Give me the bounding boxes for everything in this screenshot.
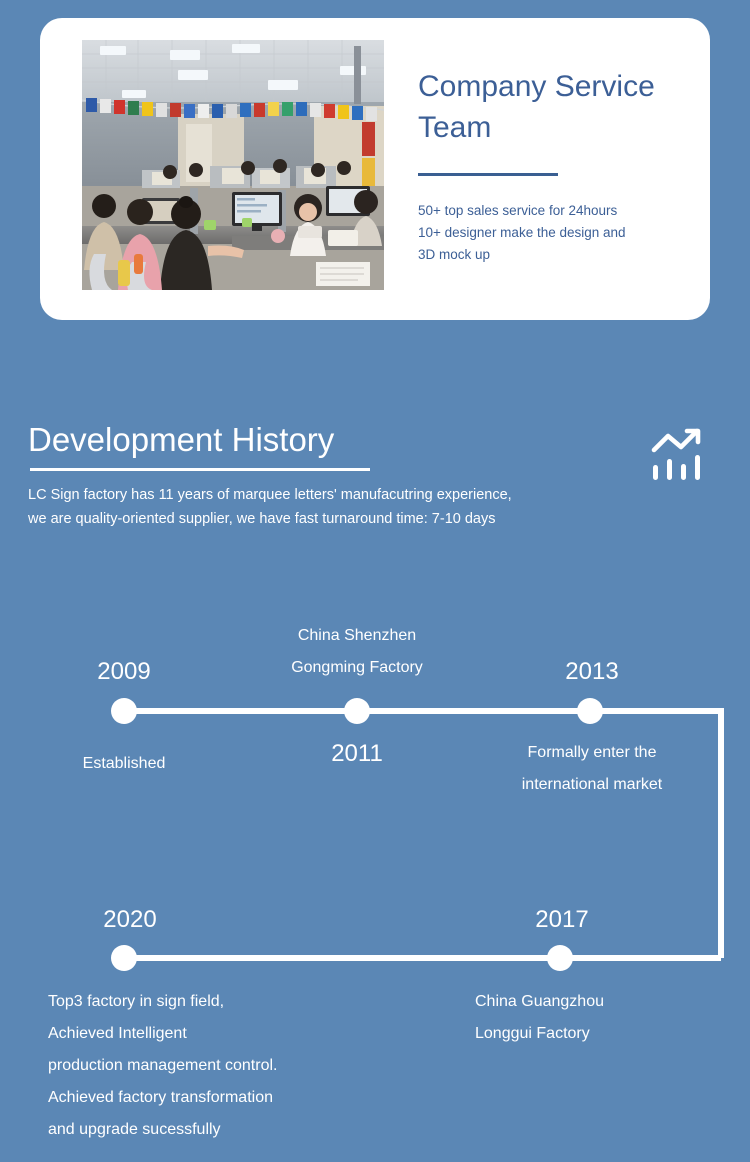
timeline-year-2013: 2013 xyxy=(565,657,618,687)
timeline-label-2020-line-2: Achieved Intelligent xyxy=(48,1018,428,1050)
timeline-label-2009: Established xyxy=(34,748,214,780)
timeline-label-2011: China Shenzhen Gongming Factory xyxy=(237,620,477,684)
timeline-label-2013-line-2: international market xyxy=(462,769,722,801)
timeline-label-2020-line-1: Top3 factory in sign field, xyxy=(48,986,428,1018)
timeline-label-2013-line-1: Formally enter the xyxy=(462,737,722,769)
timeline-dot-2017[interactable] xyxy=(547,945,573,971)
timeline-year-2017: 2017 xyxy=(535,905,588,935)
hero-subtitle: 50+ top sales service for 24hours 10+ de… xyxy=(418,200,690,266)
timeline-label-2017-line-2: Longgui Factory xyxy=(475,1018,745,1050)
development-history-title: Development History xyxy=(28,418,334,462)
timeline-label-2020-line-5: and upgrade sucessfully xyxy=(48,1114,428,1146)
hero-subtitle-line-3: 3D mock up xyxy=(418,244,690,266)
timeline-year-2011: 2011 xyxy=(331,739,383,769)
office-team-photo xyxy=(82,40,384,290)
timeline-label-2011-line-1: China Shenzhen xyxy=(237,620,477,652)
timeline-label-2020-line-3: production management control. xyxy=(48,1050,428,1082)
timeline-label-2009-line-1: Established xyxy=(34,748,214,780)
hero-title: Company Service Team xyxy=(418,66,690,148)
development-description-line-1: LC Sign factory has 11 years of marquee … xyxy=(28,483,628,507)
development-history-underline xyxy=(30,468,370,471)
hero-subtitle-line-2: 10+ designer make the design and xyxy=(418,222,690,244)
timeline-label-2011-line-2: Gongming Factory xyxy=(237,652,477,684)
timeline-label-2020-line-4: Achieved factory transformation xyxy=(48,1082,428,1114)
timeline-dot-2009[interactable] xyxy=(111,698,137,724)
hero-text-block: Company Service Team 50+ top sales servi… xyxy=(418,66,690,266)
company-service-team-card: Company Service Team 50+ top sales servi… xyxy=(40,18,710,320)
growth-chart-icon xyxy=(648,420,714,486)
timeline-year-2020: 2020 xyxy=(103,905,156,935)
development-description-line-2: we are quality-oriented supplier, we hav… xyxy=(28,507,628,531)
timeline-dot-2011[interactable] xyxy=(344,698,370,724)
timeline-year-2009: 2009 xyxy=(97,657,150,687)
hero-divider xyxy=(418,173,558,176)
timeline-label-2017: China Guangzhou Longgui Factory xyxy=(475,986,745,1050)
timeline-dot-2013[interactable] xyxy=(577,698,603,724)
timeline-label-2013: Formally enter the international market xyxy=(462,737,722,801)
timeline-label-2020: Top3 factory in sign field, Achieved Int… xyxy=(48,986,428,1146)
hero-subtitle-line-1: 50+ top sales service for 24hours xyxy=(418,200,690,222)
timeline-label-2017-line-1: China Guangzhou xyxy=(475,986,745,1018)
timeline-dot-2020[interactable] xyxy=(111,945,137,971)
development-history-description: LC Sign factory has 11 years of marquee … xyxy=(28,483,628,531)
